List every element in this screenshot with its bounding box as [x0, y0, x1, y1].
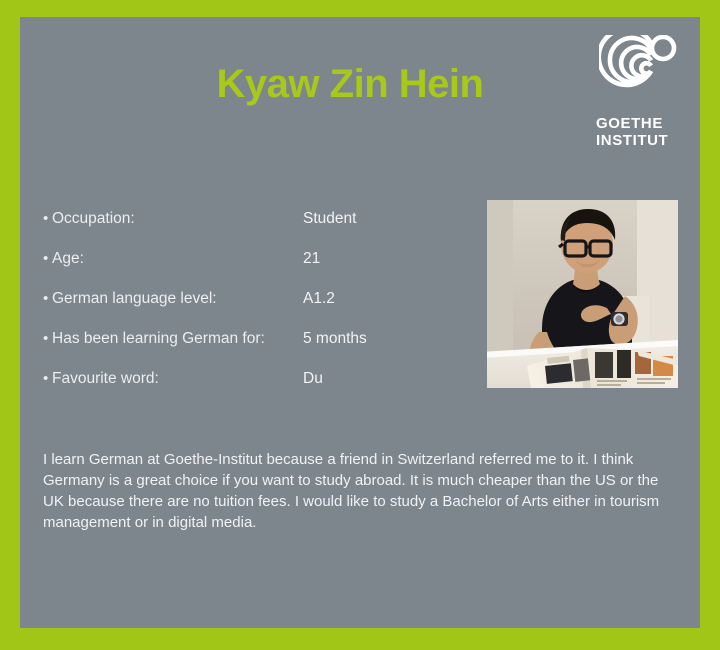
list-item: • German language level: A1.2 [43, 279, 483, 319]
list-item: • Has been learning German for: 5 months [43, 319, 483, 359]
goethe-institut-wordmark: GOETHE INSTITUT [596, 115, 682, 149]
detail-label: Occupation: [52, 199, 135, 239]
detail-value: 5 months [303, 319, 367, 359]
detail-value: Student [303, 199, 356, 239]
card-panel: Kyaw Zin Hein GOETHE INSTITUT [20, 17, 700, 628]
bullet-icon: • [43, 279, 48, 319]
bullet-icon: • [43, 239, 48, 279]
detail-value: Du [303, 359, 323, 399]
detail-label: Favourite word: [52, 359, 159, 399]
profile-card: Kyaw Zin Hein GOETHE INSTITUT [0, 0, 720, 650]
detail-value: A1.2 [303, 279, 335, 319]
goethe-institut-logo-mark [599, 35, 679, 107]
detail-label: Age: [52, 239, 84, 279]
profile-photo [487, 200, 678, 388]
bullet-icon: • [43, 319, 48, 359]
wordmark-line-institut: INSTITUT [596, 132, 682, 149]
detail-label: German language level: [52, 279, 217, 319]
wordmark-line-goethe: GOETHE [596, 115, 682, 132]
detail-label: Has been learning German for: [52, 319, 265, 359]
card-header: Kyaw Zin Hein GOETHE INSTITUT [20, 17, 700, 182]
list-item: • Age: 21 [43, 239, 483, 279]
detail-value: 21 [303, 239, 320, 279]
bullet-icon: • [43, 359, 48, 399]
profile-photo-image [487, 200, 678, 388]
profile-details-list: • Occupation: Student • Age: 21 • German… [43, 199, 483, 399]
list-item: • Favourite word: Du [43, 359, 483, 399]
profile-quote: I learn German at Goethe-Institut becaus… [43, 449, 679, 533]
goethe-institut-logo: GOETHE INSTITUT [596, 35, 682, 160]
list-item: • Occupation: Student [43, 199, 483, 239]
bullet-icon: • [43, 199, 48, 239]
page-title: Kyaw Zin Hein [20, 62, 680, 106]
